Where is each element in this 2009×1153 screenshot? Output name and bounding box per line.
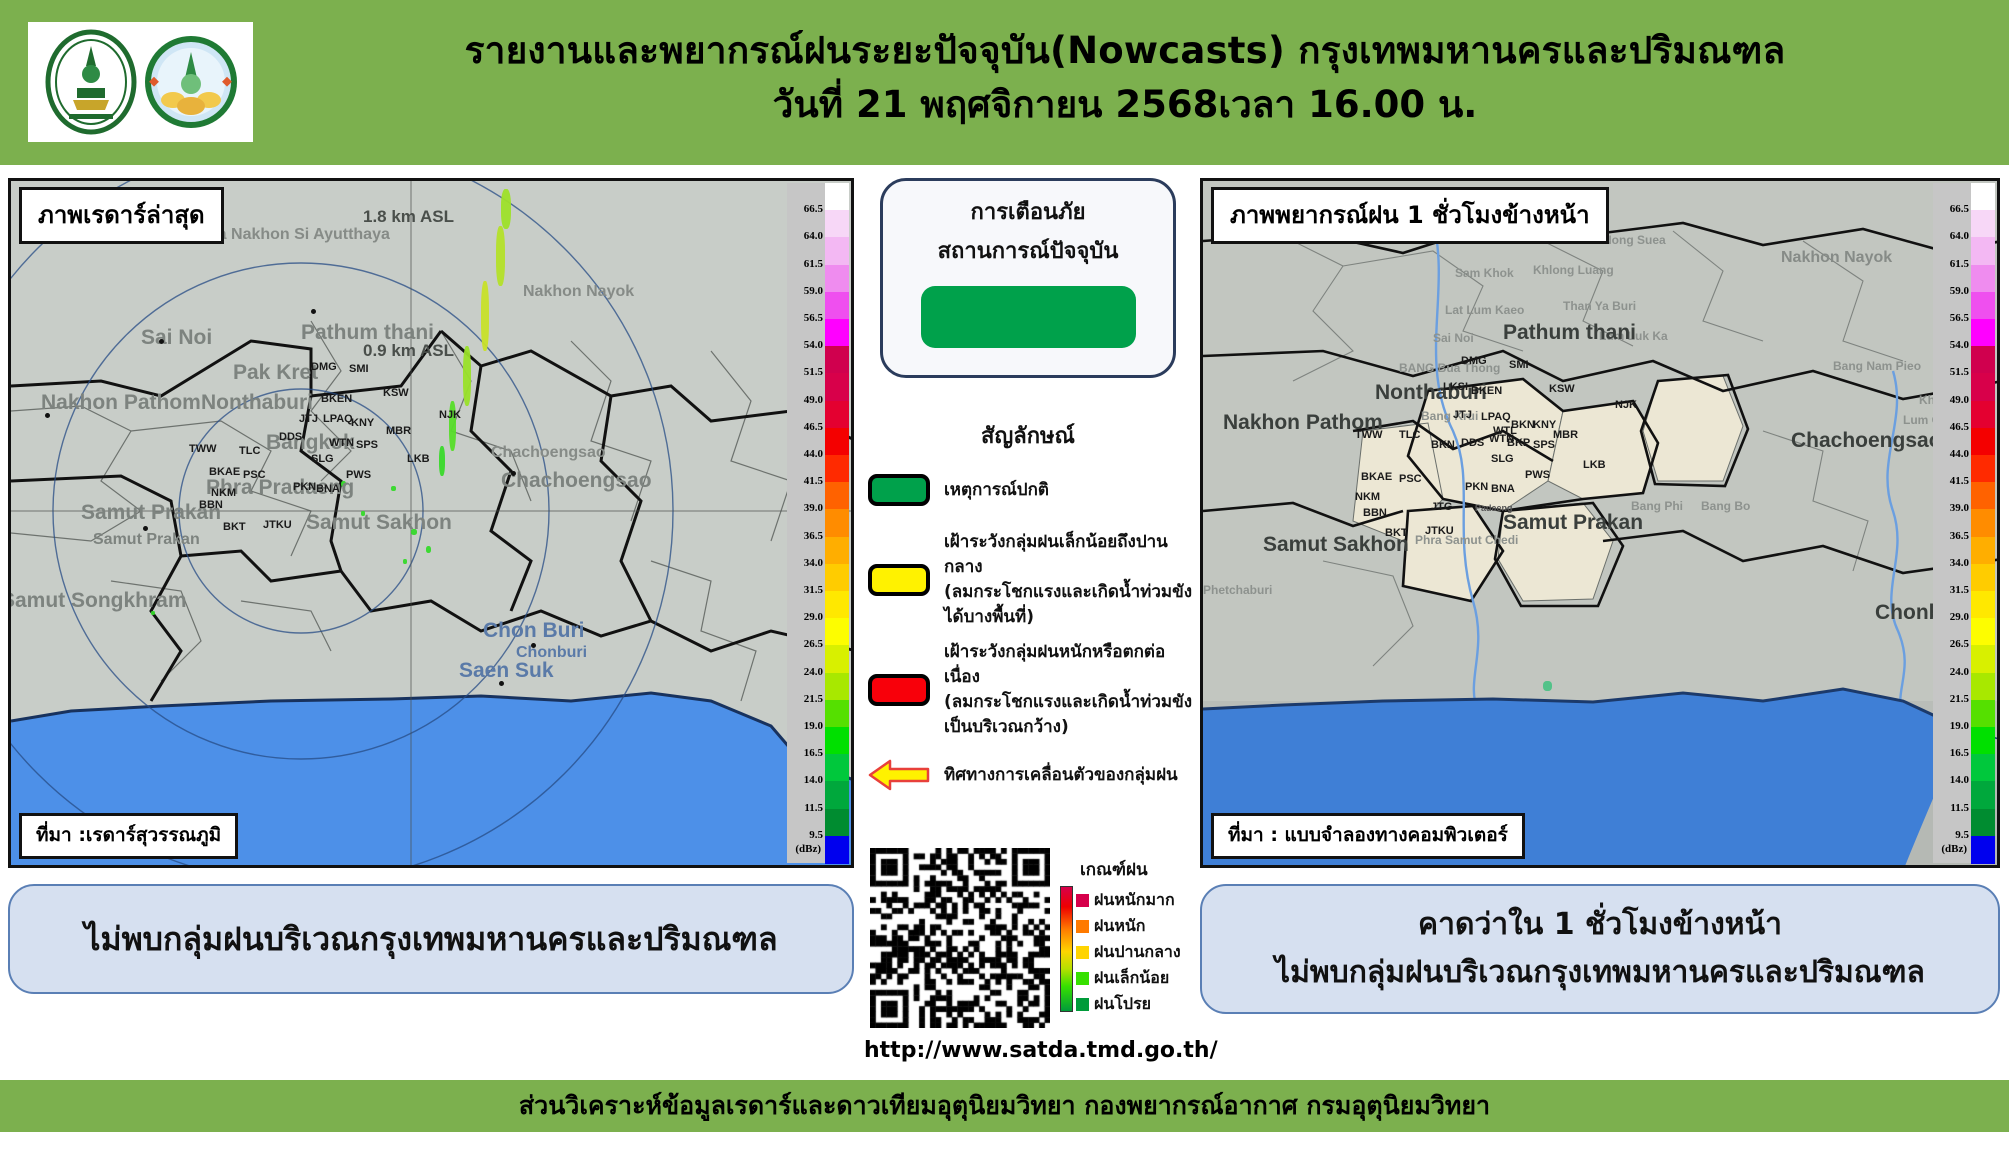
colorbar-band <box>1971 401 1995 429</box>
rain-level-0-label: ฝนหนักมาก <box>1094 888 1175 913</box>
station-BBN: BBN <box>199 499 223 511</box>
station-SMI: SMI <box>1509 359 1529 371</box>
colorbar-tick: 11.5 <box>1950 802 1969 814</box>
colorbar-tick: 66.5 <box>804 203 823 215</box>
agency-logos <box>28 22 253 142</box>
radar-panel-title-text: ภาพเรดาร์ล่าสุด <box>38 201 205 229</box>
station-DMG: DMG <box>311 361 337 373</box>
colorbar-band <box>825 373 849 401</box>
colorbar-band <box>1971 537 1995 565</box>
station-DDS: DDS <box>279 431 302 443</box>
legend-label-red-line2: (ลมกระโชกแรงและเกิดน้ำท่วมขัง <box>944 690 1198 715</box>
legend-label-red-line3: เป็นบริเวณกว้าง) <box>944 715 1198 740</box>
rain-level-1-chip-icon <box>1076 920 1089 933</box>
rain-criteria-scale: เกณฑ์ฝน ฝนหนักมาก ฝนหนัก ฝนปานกลาง <box>1060 856 1200 1014</box>
station-PWS: PWS <box>346 469 371 481</box>
radar-map-canvas: 1.8 km ASL 0.9 km ASL Suphan Buri Phra N… <box>11 181 851 865</box>
station-DDS: DDS <box>1461 437 1484 449</box>
colorbar-band <box>825 645 849 673</box>
station-MBR: MBR <box>386 425 411 437</box>
colorbar-band <box>825 428 849 456</box>
colorbar-tick: 31.5 <box>1950 584 1969 596</box>
colorbar-tick: 9.5 <box>809 829 823 841</box>
city-dot <box>511 471 516 476</box>
legend-label-yellow-line2: (ลมกระโชกแรงและเกิดน้ำท่วมขัง <box>944 580 1198 605</box>
colorbar-tick: 61.5 <box>804 258 823 270</box>
colorbar-tick: 49.0 <box>1950 394 1969 406</box>
legend-label-yellow-line1: เฝ้าระวังกลุ่มฝนเล็กน้อยถึงปานกลาง <box>944 530 1198 580</box>
warning-status-indicator <box>921 286 1136 348</box>
radar-source-tag: ที่มา :เรดาร์สุวรรณภูมิ <box>19 813 238 859</box>
colorbar-tick: 36.5 <box>1950 530 1969 542</box>
colorbar-band <box>1971 727 1995 755</box>
colorbar-band <box>1971 292 1995 320</box>
station-PSC: PSC <box>243 469 266 481</box>
forecast-caption: คาดว่าใน 1 ชั่วโมงข้างหน้า ไม่พบกลุ่มฝนบ… <box>1200 884 2000 1014</box>
station-SPS: SPS <box>1533 439 1555 451</box>
legend-swatch-red-icon <box>868 674 930 706</box>
colorbar-tick: 26.5 <box>1950 638 1969 650</box>
colorbar-band <box>825 618 849 646</box>
city-dot <box>531 643 536 648</box>
colorbar-band <box>825 700 849 728</box>
colorbar-tick: 54.0 <box>804 339 823 351</box>
station-TLC: TLC <box>1399 429 1420 441</box>
legend-label-arrow: ทิศทางการเคลื่อนตัวของกลุ่มฝน <box>944 763 1178 788</box>
warning-card-line2: สถานการณ์ปัจจุบัน <box>883 233 1173 268</box>
colorbar-tick: 36.5 <box>804 530 823 542</box>
colorbar-tick: 56.5 <box>1950 312 1969 324</box>
rain-level-0: ฝนหนักมาก <box>1076 888 1175 913</box>
rain-level-2-label: ฝนปานกลาง <box>1094 940 1181 965</box>
legend-title: สัญลักษณ์ <box>860 418 1196 453</box>
colorbar-band <box>825 781 849 809</box>
radar-caption-line1: ไม่พบกลุ่มฝนบริเวณกรุงเทพมหานครและปริมณฑ… <box>84 914 777 965</box>
colorbar-band <box>825 346 849 374</box>
radar-map-panel[interactable]: 1.8 km ASL 0.9 km ASL Suphan Buri Phra N… <box>8 178 854 868</box>
station-PKN: PKN <box>1465 481 1488 493</box>
colorbar-tick: 64.0 <box>1950 230 1969 242</box>
rain-level-3-label: ฝนเล็กน้อย <box>1094 966 1169 991</box>
colorbar-tick: 59.0 <box>1950 285 1969 297</box>
city-dot <box>45 413 50 418</box>
rain-scale-gradient-bar <box>1060 886 1073 1012</box>
colorbar-band <box>825 292 849 320</box>
page-title-line1: รายงานและพยากรณ์ฝนระยะปัจจุบัน(Nowcasts)… <box>300 24 1950 78</box>
station-BKEN: BKEN <box>1471 385 1502 397</box>
station-BBN: BBN <box>1363 507 1387 519</box>
satda-url[interactable]: http://www.satda.tmd.go.th/ <box>864 1038 1196 1063</box>
colorbar-tick: 59.0 <box>804 285 823 297</box>
station-NJK: NJK <box>439 409 461 421</box>
city-dot <box>159 339 164 344</box>
station-JTG: JTG <box>1431 501 1452 513</box>
page-header: รายงานและพยากรณ์ฝนระยะปัจจุบัน(Nowcasts)… <box>0 0 2009 165</box>
station-SMI: SMI <box>349 363 369 375</box>
forecast-boundaries <box>1203 181 2000 868</box>
colorbar-band <box>1971 673 1995 701</box>
colorbar-tick: 51.5 <box>1950 366 1969 378</box>
radar-colorbar-gradient <box>825 183 849 863</box>
colorbar-band <box>825 537 849 565</box>
colorbar-unit: (dBz) <box>795 843 821 855</box>
station-SLG: SLG <box>1491 453 1514 465</box>
legend-label-red-line1: เฝ้าระวังกลุ่มฝนหนักหรือตกต่อเนื่อง <box>944 640 1198 690</box>
altitude-label-2: 0.9 km ASL <box>363 341 454 361</box>
forecast-map-panel[interactable]: Suphan Buri Phra Nakhon Si Ayutthaya Non… <box>1200 178 2000 868</box>
colorbar-band <box>825 564 849 592</box>
station-BKT: BKT <box>1385 527 1408 539</box>
station-LPAQ: LPAQ <box>1481 411 1511 423</box>
station-PSC: PSC <box>1399 473 1422 485</box>
station-TWW: TWW <box>1355 429 1382 441</box>
colorbar-band <box>1971 645 1995 673</box>
warning-card-line1: การเตือนภัย <box>883 194 1173 229</box>
colorbar-band <box>1971 836 1995 864</box>
page-title-line2: วันที่ 21 พฤศจิกายน 2568เวลา 16.00 น. <box>300 78 1950 132</box>
station-MBR: MBR <box>1553 429 1578 441</box>
city-dot <box>499 681 504 686</box>
colorbar-band <box>1971 618 1995 646</box>
station-SPS: SPS <box>356 439 378 451</box>
legend-item-red: เฝ้าระวังกลุ่มฝนหนักหรือตกต่อเนื่อง (ลมก… <box>868 640 1198 740</box>
rain-level-3-chip-icon <box>1076 972 1089 985</box>
colorbar-tick: 11.5 <box>804 802 823 814</box>
colorbar-band <box>825 836 849 864</box>
colorbar-band <box>825 482 849 510</box>
colorbar-band <box>825 727 849 755</box>
colorbar-tick: 9.5 <box>1955 829 1969 841</box>
forecast-echo <box>1543 681 1552 691</box>
station-BKAE: BKAE <box>1361 471 1392 483</box>
legend-label-normal: เหตุการณ์ปกติ <box>944 478 1049 503</box>
station-SLG: SLG <box>311 453 334 465</box>
colorbar-band <box>1971 237 1995 265</box>
colorbar-band <box>1971 781 1995 809</box>
colorbar-tick: 19.0 <box>1950 720 1969 732</box>
colorbar-tick: 31.5 <box>804 584 823 596</box>
legend-item-arrow: ทิศทางการเคลื่อนตัวของกลุ่มฝน <box>868 758 1198 792</box>
colorbar-band <box>1971 455 1995 483</box>
rain-scale-body: ฝนหนักมาก ฝนหนัก ฝนปานกลาง ฝนเล็กน้อย <box>1060 886 1200 1014</box>
colorbar-band <box>1971 373 1995 401</box>
colorbar-tick: 64.0 <box>804 230 823 242</box>
station-PKN: PKN <box>293 481 316 493</box>
rain-scale-title: เกณฑ์ฝน <box>1080 856 1200 883</box>
colorbar-tick: 29.0 <box>804 611 823 623</box>
colorbar-tick: 21.5 <box>804 693 823 705</box>
station-BKT: BKT <box>223 521 246 533</box>
forecast-caption-line2: ไม่พบกลุ่มฝนบริเวณกรุงเทพมหานครและปริมณฑ… <box>1275 949 1925 997</box>
forecast-colorbar: 66.564.061.559.056.554.051.549.046.544.0… <box>1933 183 1995 863</box>
colorbar-tick: 34.0 <box>804 557 823 569</box>
colorbar-band <box>1971 509 1995 537</box>
colorbar-tick: 41.5 <box>1950 475 1969 487</box>
forecast-caption-line1: คาดว่าใน 1 ชั่วโมงข้างหน้า <box>1418 901 1782 949</box>
forecast-panel-title: ภาพพยากรณ์ฝน 1 ชั่วโมงข้างหน้า <box>1211 187 1609 244</box>
legend-item-yellow: เฝ้าระวังกลุ่มฝนเล็กน้อยถึงปานกลาง (ลมกร… <box>868 530 1198 630</box>
colorbar-band <box>825 673 849 701</box>
station-KSW: KSW <box>1549 383 1575 395</box>
station-LPAQ: LPAQ <box>323 413 353 425</box>
colorbar-band <box>825 237 849 265</box>
rain-level-1-label: ฝนหนัก <box>1094 914 1145 939</box>
colorbar-band <box>825 754 849 782</box>
station-NKM: NKM <box>1355 491 1380 503</box>
station-JTJ: JTJ <box>299 413 318 425</box>
colorbar-tick: 29.0 <box>1950 611 1969 623</box>
rain-level-4: ฝนโปรย <box>1076 992 1151 1017</box>
colorbar-band <box>1971 591 1995 619</box>
colorbar-tick: 39.0 <box>1950 502 1969 514</box>
station-BNA: BNA <box>316 483 340 495</box>
footer-text: ส่วนวิเคราะห์ข้อมูลเรดาร์และดาวเทียมอุตุ… <box>519 1086 1490 1126</box>
station-DMG: DMG <box>1461 355 1487 367</box>
station-NKM: NKM <box>211 487 236 499</box>
forecast-source-tag: ที่มา : แบบจำลองทางคอมพิวเตอร์ <box>1211 813 1525 859</box>
colorbar-tick: 14.0 <box>1950 774 1969 786</box>
colorbar-band <box>825 809 849 837</box>
colorbar-tick: 14.0 <box>804 774 823 786</box>
colorbar-tick: 34.0 <box>1950 557 1969 569</box>
legend-label-yellow-line3: ได้บางพื้นที่) <box>944 605 1198 630</box>
station-JTKU: JTKU <box>263 519 292 531</box>
province-boundaries <box>11 181 854 868</box>
colorbar-tick: 21.5 <box>1950 693 1969 705</box>
station-TLC: TLC <box>239 445 260 457</box>
radar-source-text: ที่มา :เรดาร์สุวรรณภูมิ <box>36 824 221 846</box>
city-dot <box>311 309 316 314</box>
forecast-colorbar-ticks: 66.564.061.559.056.554.051.549.046.544.0… <box>1933 183 1971 863</box>
station-KSW: KSW <box>383 387 409 399</box>
rain-level-2-chip-icon <box>1076 946 1089 959</box>
station-LKB: LKB <box>407 453 430 465</box>
colorbar-band <box>1971 319 1995 347</box>
colorbar-tick: 46.5 <box>1950 421 1969 433</box>
colorbar-band <box>1971 482 1995 510</box>
colorbar-tick: 24.0 <box>804 666 823 678</box>
colorbar-band <box>1971 210 1995 238</box>
station-TWW: TWW <box>189 443 216 455</box>
rain-level-3: ฝนเล็กน้อย <box>1076 966 1169 991</box>
forecast-map-canvas: Suphan Buri Phra Nakhon Si Ayutthaya Non… <box>1203 181 1997 865</box>
station-Padaeng: Padaeng <box>1475 503 1513 513</box>
colorbar-tick: 46.5 <box>804 421 823 433</box>
colorbar-band <box>1971 700 1995 728</box>
forecast-colorbar-gradient <box>1971 183 1995 863</box>
colorbar-band <box>1971 428 1995 456</box>
colorbar-band <box>825 183 849 211</box>
radar-panel-title: ภาพเรดาร์ล่าสุด <box>19 187 224 244</box>
center-legend-column: การเตือนภัย สถานการณ์ปัจจุบัน สัญลักษณ์ … <box>860 178 1196 1078</box>
forecast-panel-title-text: ภาพพยากรณ์ฝน 1 ชั่วโมงข้างหน้า <box>1230 201 1590 229</box>
rain-level-4-label: ฝนโปรย <box>1094 992 1151 1017</box>
station-BKP: BKP <box>1507 437 1530 449</box>
colorbar-tick: 66.5 <box>1950 203 1969 215</box>
nowcast-dashboard: รายงานและพยากรณ์ฝนระยะปัจจุบัน(Nowcasts)… <box>0 0 2009 1153</box>
colorbar-band <box>825 265 849 293</box>
colorbar-band <box>1971 809 1995 837</box>
station-BKAE: BKAE <box>209 466 240 478</box>
forecast-source-text: ที่มา : แบบจำลองทางคอมพิวเตอร์ <box>1228 824 1508 846</box>
royal-irrigation-seal-icon <box>43 26 139 138</box>
radar-colorbar: 66.564.061.559.056.554.051.549.046.544.0… <box>787 183 849 863</box>
colorbar-tick: 44.0 <box>1950 448 1969 460</box>
colorbar-band <box>825 210 849 238</box>
city-dot <box>143 526 148 531</box>
colorbar-tick: 19.0 <box>804 720 823 732</box>
colorbar-tick: 51.5 <box>804 366 823 378</box>
station-KNY: KNY <box>351 417 374 429</box>
station-BNA: BNA <box>1491 483 1515 495</box>
colorbar-tick: 49.0 <box>804 394 823 406</box>
colorbar-tick: 26.5 <box>804 638 823 650</box>
colorbar-band <box>825 509 849 537</box>
radar-caption: ไม่พบกลุ่มฝนบริเวณกรุงเทพมหานครและปริมณฑ… <box>8 884 854 994</box>
legend-label-yellow-block: เฝ้าระวังกลุ่มฝนเล็กน้อยถึงปานกลาง (ลมกร… <box>944 530 1198 630</box>
rain-level-2: ฝนปานกลาง <box>1076 940 1181 965</box>
colorbar-band <box>1971 564 1995 592</box>
colorbar-tick: 44.0 <box>804 448 823 460</box>
colorbar-tick: 24.0 <box>1950 666 1969 678</box>
station-WTN: WTN <box>329 437 354 449</box>
colorbar-band <box>825 455 849 483</box>
left-arrow-icon <box>868 758 930 792</box>
colorbar-band <box>1971 754 1995 782</box>
station-PWS: PWS <box>1525 469 1550 481</box>
station-WTL: WTL <box>1493 425 1517 437</box>
tmd-seal-icon <box>143 26 239 138</box>
colorbar-band <box>1971 265 1995 293</box>
station-JTKU: JTKU <box>1425 525 1454 537</box>
page-title: รายงานและพยากรณ์ฝนระยะปัจจุบัน(Nowcasts)… <box>300 24 1950 132</box>
altitude-label-1: 1.8 km ASL <box>363 207 454 227</box>
colorbar-tick: 56.5 <box>804 312 823 324</box>
rain-level-1: ฝนหนัก <box>1076 914 1145 939</box>
station-LKB: LKB <box>1583 459 1606 471</box>
colorbar-band <box>1971 183 1995 211</box>
legend-swatch-green-icon <box>868 474 930 506</box>
legend-item-normal: เหตุการณ์ปกติ <box>868 474 1198 506</box>
colorbar-tick: 39.0 <box>804 502 823 514</box>
station-NJK: NJK <box>1615 399 1637 411</box>
rain-level-4-chip-icon <box>1076 998 1089 1011</box>
colorbar-band <box>825 591 849 619</box>
colorbar-tick: 61.5 <box>1950 258 1969 270</box>
station-BKN2: BKN <box>1431 439 1455 451</box>
colorbar-band <box>825 319 849 347</box>
station-JTJ: JTJ <box>1453 409 1472 421</box>
page-footer: ส่วนวิเคราะห์ข้อมูลเรดาร์และดาวเทียมอุตุ… <box>0 1080 2009 1132</box>
colorbar-band <box>1971 346 1995 374</box>
qr-code-icon[interactable] <box>870 848 1050 1028</box>
station-LKSI: LKSI <box>1443 381 1468 393</box>
colorbar-tick: 54.0 <box>1950 339 1969 351</box>
warning-status-card: การเตือนภัย สถานการณ์ปัจจุบัน <box>880 178 1176 378</box>
colorbar-unit: (dBz) <box>1941 843 1967 855</box>
legend-label-red-block: เฝ้าระวังกลุ่มฝนหนักหรือตกต่อเนื่อง (ลมก… <box>944 640 1198 740</box>
colorbar-tick: 41.5 <box>804 475 823 487</box>
station-BKEN: BKEN <box>321 393 352 405</box>
radar-colorbar-ticks: 66.564.061.559.056.554.051.549.046.544.0… <box>787 183 825 863</box>
colorbar-tick: 16.5 <box>1950 747 1969 759</box>
legend-swatch-yellow-icon <box>868 564 930 596</box>
rain-level-0-chip-icon <box>1076 894 1089 907</box>
colorbar-tick: 16.5 <box>804 747 823 759</box>
colorbar-band <box>825 401 849 429</box>
